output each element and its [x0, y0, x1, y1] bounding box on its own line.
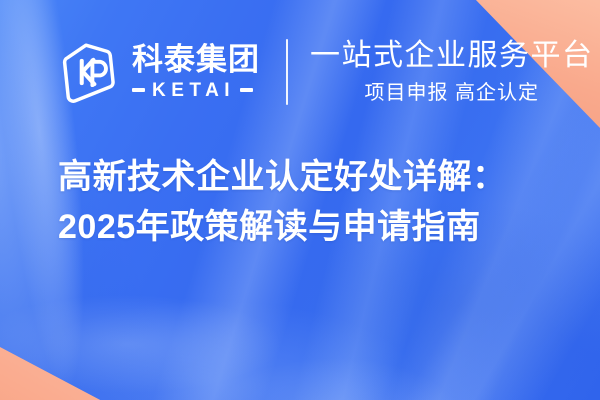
tagline-block: 一站式企业服务平台 项目申报 高企认定 — [310, 39, 594, 105]
brand-wordmark: 科泰集团 KETAI — [132, 44, 260, 100]
dash-left-icon — [132, 88, 145, 92]
brand-header: 科泰集团 KETAI 一站式企业服务平台 项目申报 高企认定 — [58, 34, 594, 110]
dash-right-icon — [240, 88, 253, 92]
article-cover-banner: 科泰集团 KETAI 一站式企业服务平台 项目申报 高企认定 高新技术企业认定好… — [0, 0, 600, 400]
page-title-line2: 年政策解读与申请指南 — [136, 208, 481, 246]
tagline-main: 一站式企业服务平台 — [310, 39, 594, 74]
ketai-logo-icon — [58, 41, 120, 103]
brand-name-cn: 科泰集团 — [132, 44, 260, 77]
tagline-sub: 项目申报 高企认定 — [310, 81, 594, 105]
brand-name-en-row: KETAI — [132, 81, 260, 100]
page-title: 高新技术企业认定好处详解：2025年政策解读与申请指南 — [58, 152, 558, 253]
brand-name-en: KETAI — [152, 81, 235, 100]
vertical-divider — [286, 39, 288, 105]
